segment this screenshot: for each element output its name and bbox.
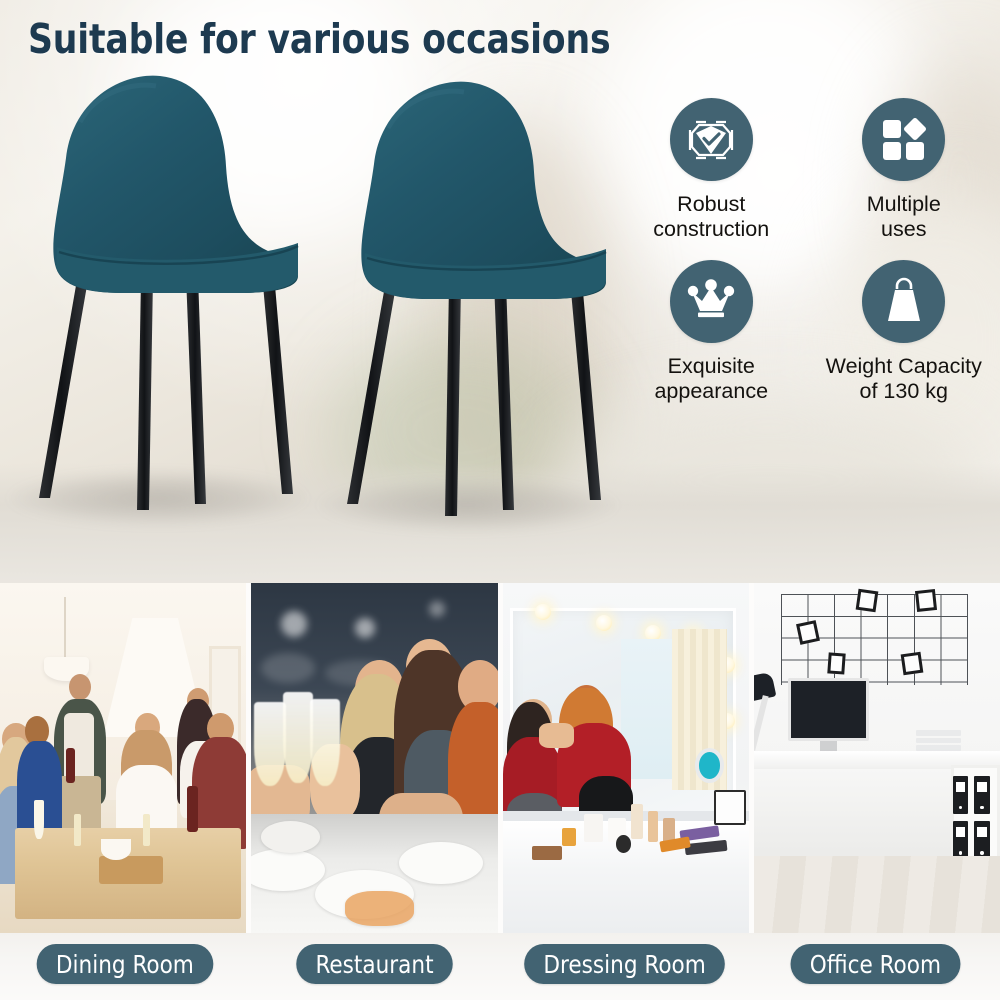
feature-label: Robust construction (653, 192, 769, 242)
scene-photo-dressing-room[interactable] (503, 583, 749, 933)
feature-icon-badge (862, 260, 945, 343)
feature-label: Multiple uses (867, 192, 941, 242)
pill-slot: Dining Room (0, 944, 250, 990)
feature-icon-badge (670, 260, 753, 343)
scene-label-row: Dining Room Restaurant Dressing Room Off… (0, 944, 1000, 990)
scene-label-dressing-room[interactable]: Dressing Room (525, 944, 726, 984)
hero-banner: Suitable for various occasions (0, 0, 1000, 583)
scene-label-restaurant[interactable]: Restaurant (297, 944, 453, 984)
scene-photo-restaurant[interactable] (251, 583, 497, 933)
feature-robust-construction: Robust construction (615, 98, 808, 242)
scene-photo-strip (0, 583, 1000, 933)
page-title: Suitable for various occasions (28, 15, 610, 63)
scene-label-office-room[interactable]: Office Room (790, 944, 960, 984)
dressing-room-illustration (503, 583, 749, 933)
pill-slot: Dressing Room (500, 944, 750, 990)
dining-room-illustration (0, 583, 246, 933)
feature-exquisite-appearance: Exquisite appearance (615, 260, 808, 404)
four-tiles-icon (881, 117, 927, 163)
scene-photo-dining-room[interactable] (0, 583, 246, 933)
shield-check-icon (686, 115, 736, 165)
feature-grid: Robust construction Multiple uses (615, 98, 1000, 404)
feature-icon-badge (670, 98, 753, 181)
office-room-illustration (754, 583, 1000, 933)
chair-seat-shell (318, 68, 628, 518)
chair-seat-shell (10, 62, 320, 512)
weight-bag-icon (883, 277, 925, 325)
pill-slot: Restaurant (250, 944, 500, 990)
scene-photo-office-room[interactable] (754, 583, 1000, 933)
product-chair-right (318, 68, 628, 518)
feature-icon-badge (862, 98, 945, 181)
feature-label: Exquisite appearance (654, 354, 768, 404)
pill-slot: Office Room (750, 944, 1000, 990)
restaurant-illustration (251, 583, 497, 933)
product-chair-left (10, 62, 320, 512)
feature-multiple-uses: Multiple uses (808, 98, 1000, 242)
feature-weight-capacity: Weight Capacity of 130 kg (808, 260, 1000, 404)
scene-label-dining-room[interactable]: Dining Room (37, 944, 213, 984)
feature-label: Weight Capacity of 130 kg (826, 354, 982, 404)
crown-icon (686, 278, 736, 324)
